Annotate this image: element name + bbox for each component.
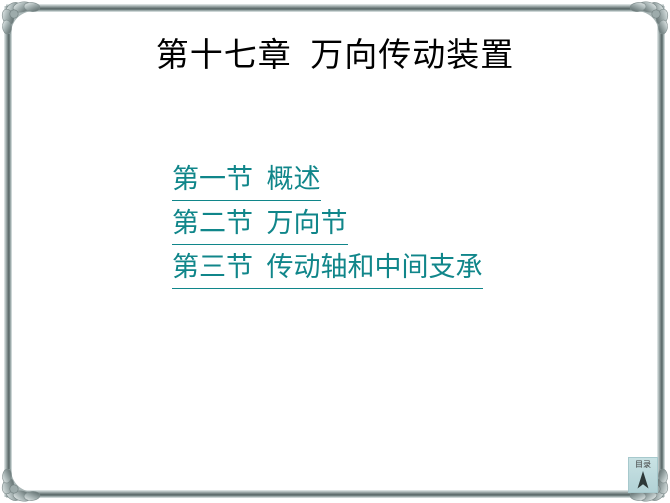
frame-border-right — [657, 6, 665, 497]
floral-corner-ornament-icon — [0, 441, 62, 503]
slide-canvas: 第十七章 万向传动装置 第一节 概述 第二节 万向节 第三节 传动轴和中间支承 … — [0, 0, 670, 503]
up-arrow-icon — [636, 470, 650, 495]
frame-border-bottom — [6, 490, 664, 498]
contents-list: 第一节 概述 第二节 万向节 第三节 传动轴和中间支承 — [172, 158, 592, 290]
contents-link-section-2[interactable]: 第二节 万向节 — [172, 202, 348, 245]
frame-border-left — [4, 6, 12, 497]
slide-title: 第十七章 万向传动装置 — [0, 33, 670, 79]
return-to-contents-button[interactable]: 目录 — [628, 457, 658, 493]
frame-border-top — [6, 4, 664, 12]
return-to-contents-label: 目录 — [635, 460, 651, 469]
contents-link-section-3[interactable]: 第三节 传动轴和中间支承 — [172, 246, 483, 289]
contents-link-section-1[interactable]: 第一节 概述 — [172, 158, 321, 201]
